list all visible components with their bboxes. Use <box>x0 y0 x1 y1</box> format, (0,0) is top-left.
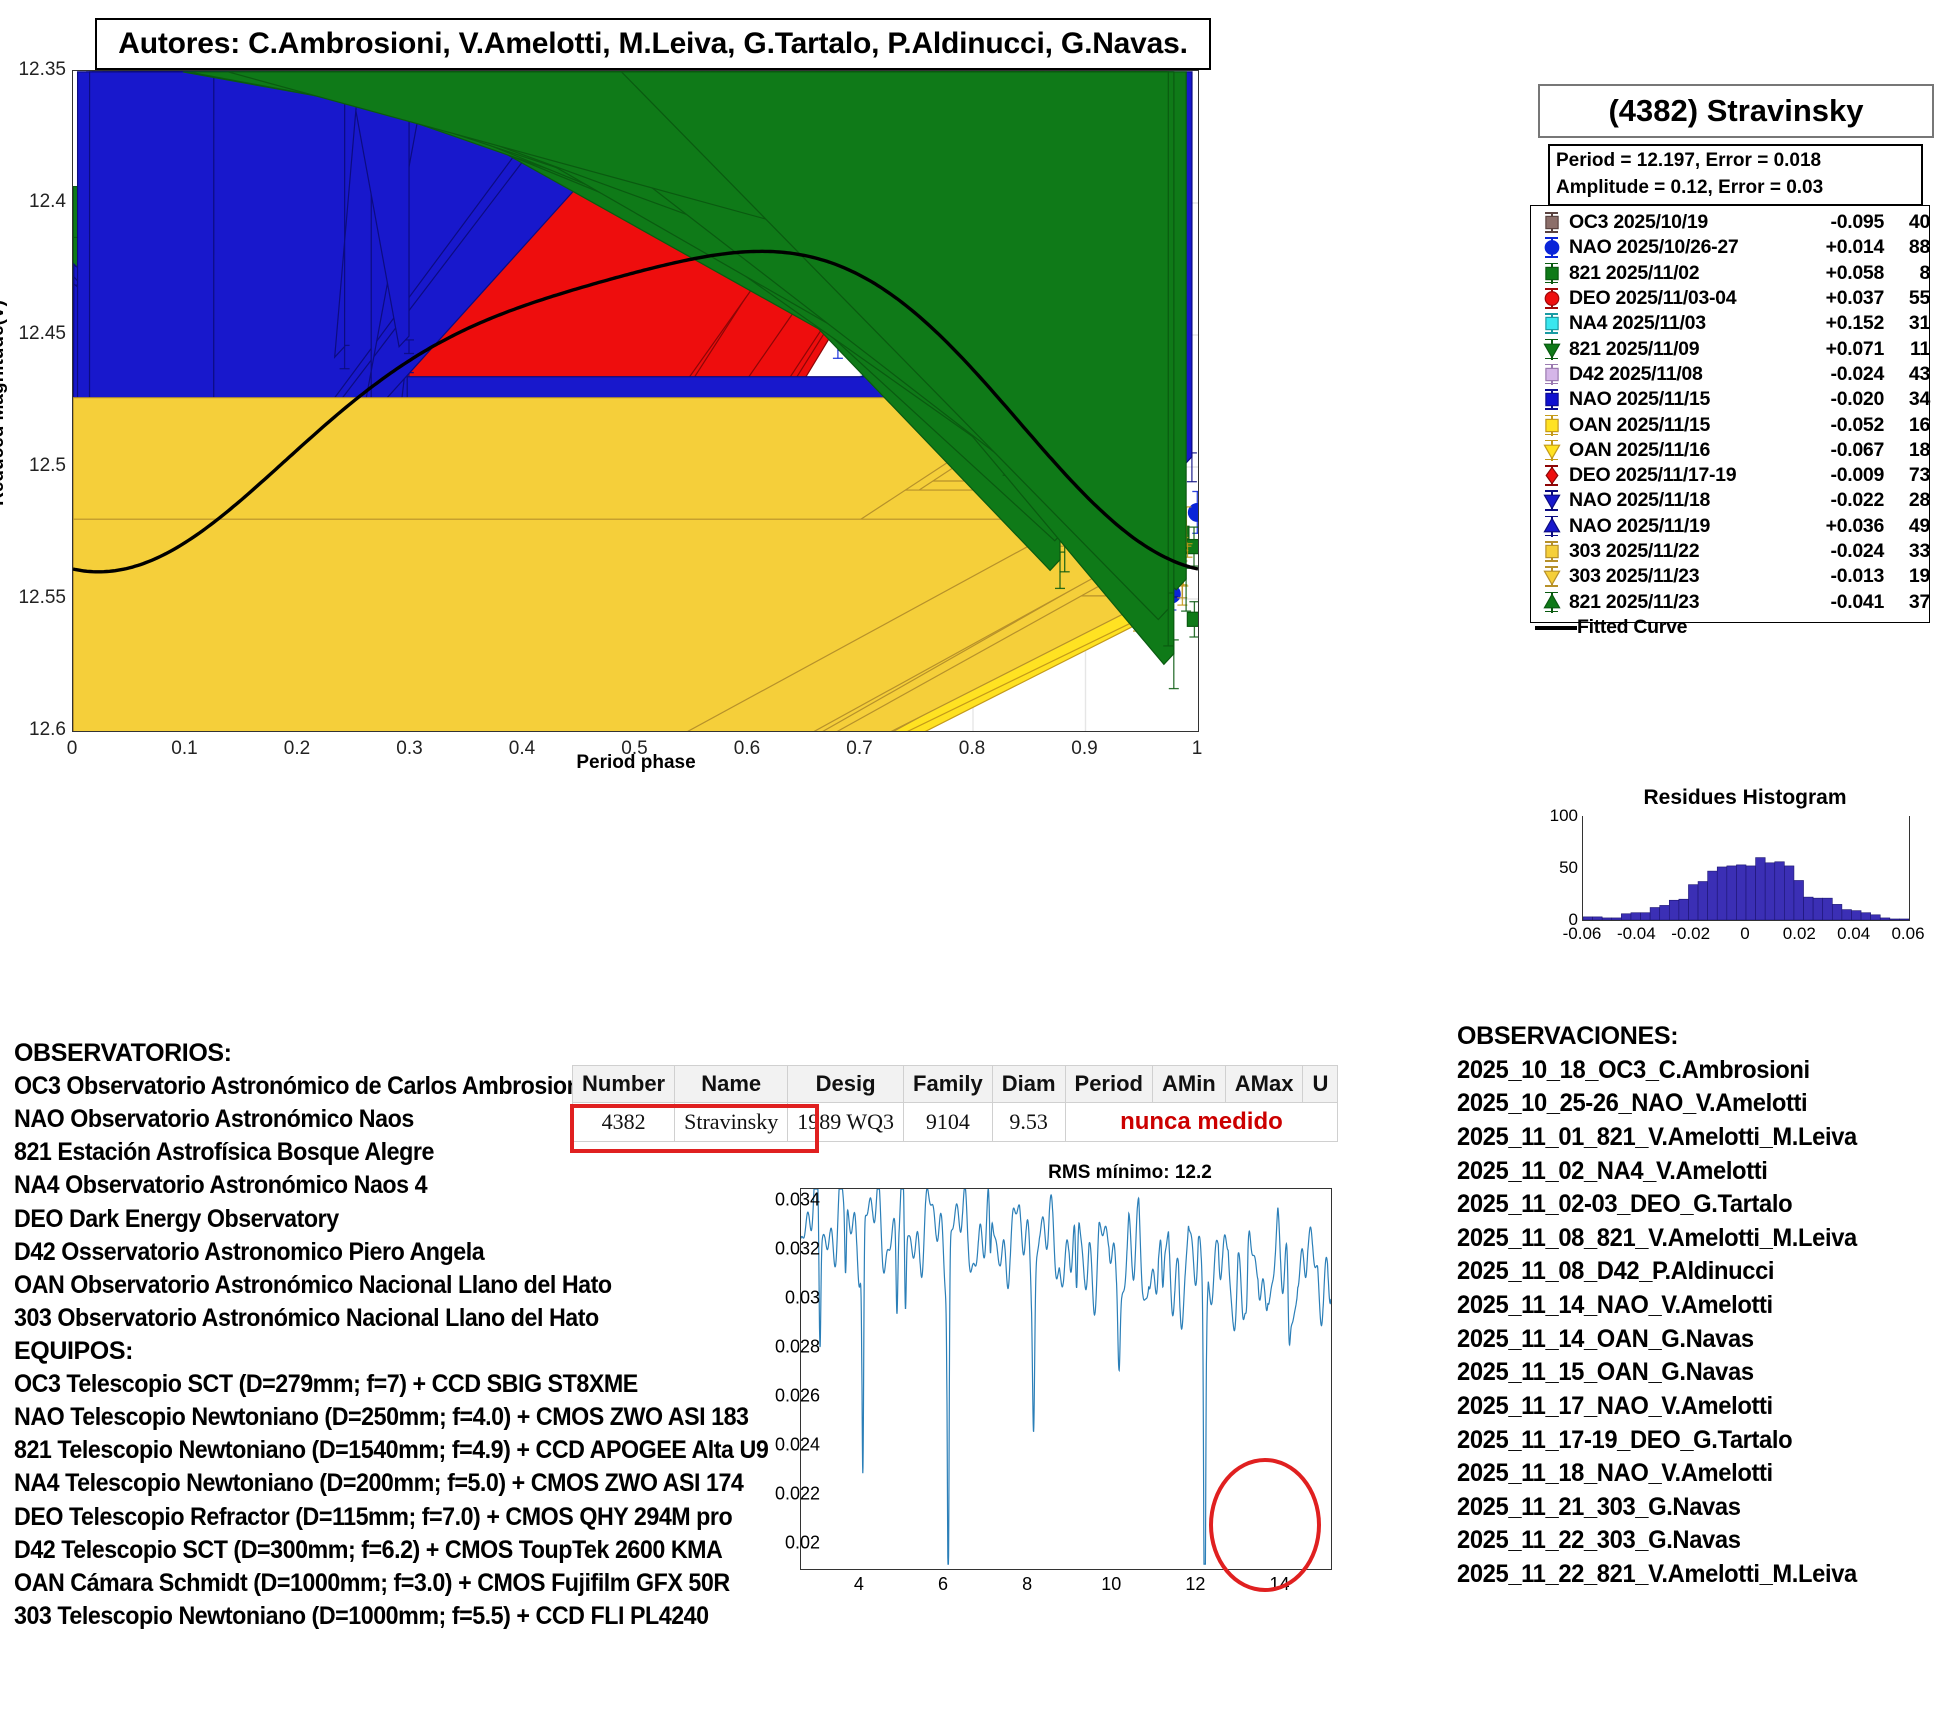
equipo-item: NA4 Telescopio Newtoniano (D=200mm; f=5.… <box>14 1467 768 1500</box>
legend-text: NAO 2025/11/19+0.03649 <box>1569 515 1930 538</box>
legend-text: DEO 2025/11/03-04+0.03755 <box>1569 287 1930 310</box>
rms-y-tick: 0.034 <box>775 1190 820 1211</box>
lightcurve-legend: OC3 2025/10/19-0.09540 NAO 2025/10/26-27… <box>1530 205 1930 623</box>
table-header-cell: Number <box>573 1066 675 1103</box>
legend-count: 37 <box>1884 591 1930 614</box>
legend-session-name: NAO 2025/10/26-27 <box>1569 236 1800 259</box>
observacion-item: 2025_11_17_NAO_V.Amelotti <box>1457 1390 1857 1424</box>
observatorios-list: OC3 Observatorio Astronómico de Carlos A… <box>14 1070 657 1335</box>
observaciones-list: 2025_10_18_OC3_C.Ambrosioni2025_10_25-26… <box>1457 1054 1878 1592</box>
legend-text: 821 2025/11/09+0.07111 <box>1569 338 1930 361</box>
legend-marker-7 <box>1535 387 1569 412</box>
rms-y-tick: 0.03 <box>785 1288 820 1309</box>
y-tick-label: 12.45 <box>0 323 66 345</box>
x-tick-label: 1 <box>1192 738 1203 760</box>
legend-row: 303 2025/11/22-0.02433 <box>1535 539 1927 564</box>
legend-row: 821 2025/11/02+0.0588 <box>1535 261 1927 286</box>
equipo-item: 303 Telescopio Newtoniano (D=1000mm; f=5… <box>14 1600 768 1633</box>
rms-y-tick: 0.022 <box>775 1484 820 1505</box>
legend-text: OC3 2025/10/19-0.09540 <box>1569 211 1930 234</box>
legend-offset: +0.071 <box>1800 338 1884 361</box>
legend-count: 40 <box>1884 211 1930 234</box>
table-header-row: NumberNameDesigFamilyDiamPeriodAMinAMaxU <box>573 1066 1338 1103</box>
legend-text: 821 2025/11/02+0.0588 <box>1569 262 1930 285</box>
observacion-item: 2025_11_08_D42_P.Aldinucci <box>1457 1255 1857 1289</box>
table-header-cell: Diam <box>992 1066 1065 1103</box>
legend-count: 16 <box>1884 414 1930 437</box>
legend-offset: -0.095 <box>1800 211 1884 234</box>
legend-row: 821 2025/11/23-0.04137 <box>1535 589 1927 614</box>
legend-fitted-curve: Fitted Curve <box>1535 615 1927 641</box>
legend-count: 73 <box>1884 464 1930 487</box>
legend-session-name: 821 2025/11/02 <box>1569 262 1800 285</box>
legend-marker-11 <box>1535 488 1569 513</box>
observatorios-heading: OBSERVATORIOS: <box>14 1037 657 1070</box>
observacion-item: 2025_11_02-03_DEO_G.Tartalo <box>1457 1188 1857 1222</box>
legend-count: 49 <box>1884 515 1930 538</box>
legend-session-name: OAN 2025/11/16 <box>1569 439 1800 462</box>
legend-offset: +0.152 <box>1800 312 1884 335</box>
cell-name: Stravinsky <box>675 1103 788 1142</box>
cell-family: 9104 <box>904 1103 993 1142</box>
rms-y-tick: 0.028 <box>775 1337 820 1358</box>
legend-text: 303 2025/11/22-0.02433 <box>1569 540 1930 563</box>
observatorio-item: 303 Observatorio Astronómico Nacional Ll… <box>14 1302 612 1335</box>
x-tick-label: 0.1 <box>171 738 197 760</box>
legend-session-name: NAO 2025/11/19 <box>1569 515 1800 538</box>
legend-offset: -0.020 <box>1800 388 1884 411</box>
residues-bars <box>1583 858 1909 920</box>
legend-row: 303 2025/11/23-0.01319 <box>1535 564 1927 589</box>
legend-row: OAN 2025/11/15-0.05216 <box>1535 412 1927 437</box>
rms-axes <box>800 1188 1332 1570</box>
residues-histogram-title: Residues Histogram <box>1580 786 1910 810</box>
legend-text: DEO 2025/11/17-19-0.00973 <box>1569 464 1930 487</box>
y-tick-label: 12.55 <box>0 587 66 609</box>
rms-svg <box>801 1189 1331 1569</box>
table-header-cell: Period <box>1065 1066 1152 1103</box>
legend-marker-14 <box>1535 564 1569 589</box>
legend-marker-9 <box>1535 438 1569 463</box>
equipo-item: D42 Telescopio SCT (D=300mm; f=6.2) + CM… <box>14 1534 768 1567</box>
legend-marker-6 <box>1535 362 1569 387</box>
equipo-item: 821 Telescopio Newtoniano (D=1540mm; f=4… <box>14 1434 768 1467</box>
legend-session-name: NAO 2025/11/18 <box>1569 489 1800 512</box>
residues-histogram-panel: 050100 -0.06-0.04-0.0200.020.040.06 <box>1530 812 1930 962</box>
legend-offset: -0.067 <box>1800 439 1884 462</box>
lightcurve-svg <box>73 71 1198 731</box>
legend-row: 821 2025/11/09+0.07111 <box>1535 336 1927 361</box>
observatorio-item: D42 Osservatorio Astronomico Piero Angel… <box>14 1236 612 1269</box>
legend-session-name: 303 2025/11/22 <box>1569 540 1800 563</box>
lightcurve-axes <box>72 70 1199 732</box>
observacion-item: 2025_11_21_303_G.Navas <box>1457 1491 1857 1525</box>
legend-text: NA4 2025/11/03+0.15231 <box>1569 312 1930 335</box>
observatorio-item: OAN Observatorio Astronómico Nacional Ll… <box>14 1269 612 1302</box>
legend-text: OAN 2025/11/16-0.06718 <box>1569 439 1930 462</box>
y-tick-label: 12.5 <box>0 455 66 477</box>
observatorio-item: NA4 Observatorio Astronómico Naos 4 <box>14 1169 612 1202</box>
observaciones-block: OBSERVACIONES: 2025_10_18_OC3_C.Ambrosio… <box>1457 1020 1878 1592</box>
cell-desig: 1989 WQ3 <box>788 1103 904 1142</box>
rms-x-tick: 12 <box>1185 1574 1205 1595</box>
y-tick-label: 12.6 <box>0 719 66 741</box>
legend-marker-4 <box>1535 311 1569 336</box>
legend-row: OAN 2025/11/16-0.06718 <box>1535 438 1927 463</box>
legend-text: 821 2025/11/23-0.04137 <box>1569 591 1930 614</box>
legend-marker-8 <box>1535 413 1569 438</box>
legend-count: 55 <box>1884 287 1930 310</box>
rms-line-path <box>801 1189 1331 1564</box>
legend-marker-13 <box>1535 539 1569 564</box>
observacion-item: 2025_11_08_821_V.Amelotti_M.Leiva <box>1457 1222 1857 1256</box>
fitted-curve-swatch <box>1535 626 1577 630</box>
legend-session-name: 821 2025/11/09 <box>1569 338 1800 361</box>
fitted-curve-label: Fitted Curve <box>1577 616 1687 639</box>
legend-offset: -0.024 <box>1800 540 1884 563</box>
observacion-item: 2025_11_17-19_DEO_G.Tartalo <box>1457 1424 1857 1458</box>
residues-y-tick: 100 <box>1550 806 1578 826</box>
observacion-item: 2025_11_22_303_G.Navas <box>1457 1524 1857 1558</box>
legend-text: NAO 2025/10/26-27+0.01488 <box>1569 236 1930 259</box>
legend-row: NA4 2025/11/03+0.15231 <box>1535 311 1927 336</box>
amplitude-line: Amplitude = 0.12, Error = 0.03 <box>1556 175 1915 202</box>
legend-row: NAO 2025/11/18-0.02228 <box>1535 488 1927 513</box>
equipo-item: NAO Telescopio Newtoniano (D=250mm; f=4.… <box>14 1401 768 1434</box>
residues-x-tick: -0.04 <box>1617 924 1656 944</box>
legend-session-name: 821 2025/11/23 <box>1569 591 1800 614</box>
legend-count: 18 <box>1884 439 1930 462</box>
observacion-item: 2025_11_14_OAN_G.Navas <box>1457 1323 1857 1357</box>
legend-text: NAO 2025/11/18-0.02228 <box>1569 489 1930 512</box>
observacion-item: 2025_11_02_NA4_V.Amelotti <box>1457 1155 1857 1189</box>
x-tick-label: 0 <box>67 738 78 760</box>
legend-count: 28 <box>1884 489 1930 512</box>
cell-number: 4382 <box>573 1103 675 1142</box>
legend-row: DEO 2025/11/17-19-0.00973 <box>1535 463 1927 488</box>
y-tick-label: 12.4 <box>0 191 66 213</box>
page-root: Autores: C.Ambrosioni, V.Amelotti, M.Lei… <box>0 0 1949 1725</box>
rms-y-tick: 0.02 <box>785 1533 820 1554</box>
legend-count: 8 <box>1884 262 1930 285</box>
legend-session-name: NAO 2025/11/15 <box>1569 388 1800 411</box>
legend-session-name: OC3 2025/10/19 <box>1569 211 1800 234</box>
lightcurve-panel: Reduced Magnitude(V) Period phase 12.351… <box>0 62 1215 942</box>
observacion-item: 2025_10_25-26_NAO_V.Amelotti <box>1457 1087 1857 1121</box>
observacion-item: 2025_10_18_OC3_C.Ambrosioni <box>1457 1054 1857 1088</box>
rms-y-tick: 0.026 <box>775 1386 820 1407</box>
period-line: Period = 12.197, Error = 0.018 <box>1556 148 1915 175</box>
table-header-cell: AMax <box>1225 1066 1303 1103</box>
observatorio-item: 821 Estación Astrofísica Bosque Alegre <box>14 1136 612 1169</box>
table-header-cell: AMin <box>1152 1066 1225 1103</box>
legend-row: OC3 2025/10/19-0.09540 <box>1535 210 1927 235</box>
residues-x-tick: 0 <box>1740 924 1749 944</box>
legend-row: NAO 2025/11/19+0.03649 <box>1535 514 1927 539</box>
x-tick-label: 0.2 <box>284 738 310 760</box>
legend-offset: +0.037 <box>1800 287 1884 310</box>
legend-marker-5 <box>1535 337 1569 362</box>
lightcurve-datapoints <box>73 71 1198 731</box>
rms-x-tick: 14 <box>1270 1574 1290 1595</box>
y-tick-label: 12.35 <box>0 59 66 81</box>
observacion-item: 2025_11_14_NAO_V.Amelotti <box>1457 1289 1857 1323</box>
table-header-cell: Name <box>675 1066 788 1103</box>
residues-x-tick: 0.02 <box>1783 924 1816 944</box>
legend-offset: -0.013 <box>1800 565 1884 588</box>
x-tick-label: 0.9 <box>1071 738 1097 760</box>
nunca-medido-text: nunca medido <box>1120 1108 1283 1135</box>
legend-offset: -0.052 <box>1800 414 1884 437</box>
x-tick-label: 0.8 <box>959 738 985 760</box>
table-header-cell: Family <box>904 1066 993 1103</box>
equipo-item: DEO Telescopio Refractor (D=115mm; f=7.0… <box>14 1501 768 1534</box>
legend-session-name: DEO 2025/11/17-19 <box>1569 464 1800 487</box>
rms-periodogram-panel: 0.020.0220.0240.0260.0280.030.0320.034 4… <box>700 1180 1360 1630</box>
legend-count: 31 <box>1884 312 1930 335</box>
legend-text: OAN 2025/11/15-0.05216 <box>1569 414 1930 437</box>
legend-session-name: D42 2025/11/08 <box>1569 363 1800 386</box>
legend-row: DEO 2025/11/03-04+0.03755 <box>1535 286 1927 311</box>
legend-marker-10 <box>1535 463 1569 488</box>
observaciones-heading: OBSERVACIONES: <box>1457 1020 1878 1054</box>
residues-x-tick: 0.04 <box>1837 924 1870 944</box>
legend-session-name: 303 2025/11/23 <box>1569 565 1800 588</box>
observacion-item: 2025_11_18_NAO_V.Amelotti <box>1457 1457 1857 1491</box>
x-tick-label: 0.7 <box>846 738 872 760</box>
legend-offset: -0.024 <box>1800 363 1884 386</box>
rms-y-tick: 0.024 <box>775 1435 820 1456</box>
x-tick-label: 0.4 <box>509 738 535 760</box>
rms-x-tick: 8 <box>1022 1574 1032 1595</box>
residues-y-tick: 50 <box>1559 858 1578 878</box>
table-header-cell: Desig <box>788 1066 904 1103</box>
legend-marker-3 <box>1535 286 1569 311</box>
legend-row: NAO 2025/10/26-27+0.01488 <box>1535 235 1927 260</box>
object-title-box: (4382) Stravinsky <box>1538 84 1934 138</box>
rms-x-tick: 6 <box>938 1574 948 1595</box>
legend-offset: -0.009 <box>1800 464 1884 487</box>
legend-count: 34 <box>1884 388 1930 411</box>
legend-text: NAO 2025/11/15-0.02034 <box>1569 388 1930 411</box>
rms-y-tick: 0.032 <box>775 1239 820 1260</box>
residues-svg <box>1583 816 1909 920</box>
cell-period-note: nunca medido <box>1065 1103 1338 1142</box>
legend-count: 33 <box>1884 540 1930 563</box>
legend-text: 303 2025/11/23-0.01319 <box>1569 565 1930 588</box>
table-header-cell: U <box>1303 1066 1338 1103</box>
x-tick-label: 0.5 <box>621 738 647 760</box>
legend-offset: +0.036 <box>1800 515 1884 538</box>
observacion-item: 2025_11_01_821_V.Amelotti_M.Leiva <box>1457 1121 1857 1155</box>
legend-count: 19 <box>1884 565 1930 588</box>
legend-session-name: NA4 2025/11/03 <box>1569 312 1800 335</box>
legend-marker-15 <box>1535 590 1569 615</box>
legend-row: D42 2025/11/08-0.02443 <box>1535 362 1927 387</box>
x-tick-label: 0.3 <box>396 738 422 760</box>
observatorios-block: OBSERVATORIOS: OC3 Observatorio Astronóm… <box>14 1037 657 1335</box>
legend-marker-12 <box>1535 514 1569 539</box>
residues-x-tick: -0.02 <box>1671 924 1710 944</box>
observacion-item: 2025_11_22_821_V.Amelotti_M.Leiva <box>1457 1558 1857 1592</box>
legend-offset: -0.022 <box>1800 489 1884 512</box>
fit-parameters-box: Period = 12.197, Error = 0.018 Amplitude… <box>1548 144 1923 206</box>
residues-axes <box>1582 816 1910 921</box>
legend-marker-1 <box>1535 235 1569 260</box>
legend-session-name: OAN 2025/11/15 <box>1569 414 1800 437</box>
equipo-item: OAN Cámara Schmidt (D=1000mm; f=3.0) + C… <box>14 1567 768 1600</box>
residues-x-tick: -0.06 <box>1563 924 1602 944</box>
legend-offset: +0.058 <box>1800 262 1884 285</box>
legend-row: NAO 2025/11/15-0.02034 <box>1535 387 1927 412</box>
legend-count: 43 <box>1884 363 1930 386</box>
asteroid-data-table: NumberNameDesigFamilyDiamPeriodAMinAMaxU… <box>572 1065 1338 1142</box>
observatorio-item: DEO Dark Energy Observatory <box>14 1203 612 1236</box>
legend-text: D42 2025/11/08-0.02443 <box>1569 363 1930 386</box>
legend-offset: -0.041 <box>1800 591 1884 614</box>
legend-offset: +0.014 <box>1800 236 1884 259</box>
residues-x-tick: 0.06 <box>1891 924 1924 944</box>
legend-count: 11 <box>1884 338 1930 361</box>
legend-session-name: DEO 2025/11/03-04 <box>1569 287 1800 310</box>
equipo-item: OC3 Telescopio SCT (D=279mm; f=7) + CCD … <box>14 1368 768 1401</box>
legend-count: 88 <box>1884 236 1930 259</box>
observacion-item: 2025_11_15_OAN_G.Navas <box>1457 1356 1857 1390</box>
cell-diam: 9.53 <box>992 1103 1065 1142</box>
table-row: 4382 Stravinsky 1989 WQ3 9104 9.53 nunca… <box>573 1103 1338 1142</box>
observatorio-item: OC3 Observatorio Astronómico de Carlos A… <box>14 1070 612 1103</box>
observatorio-item: NAO Observatorio Astronómico Naos <box>14 1103 612 1136</box>
legend-marker-2 <box>1535 261 1569 286</box>
rms-x-tick: 4 <box>854 1574 864 1595</box>
x-tick-label: 0.6 <box>734 738 760 760</box>
rms-x-tick: 10 <box>1101 1574 1121 1595</box>
legend-marker-0 <box>1535 210 1569 235</box>
